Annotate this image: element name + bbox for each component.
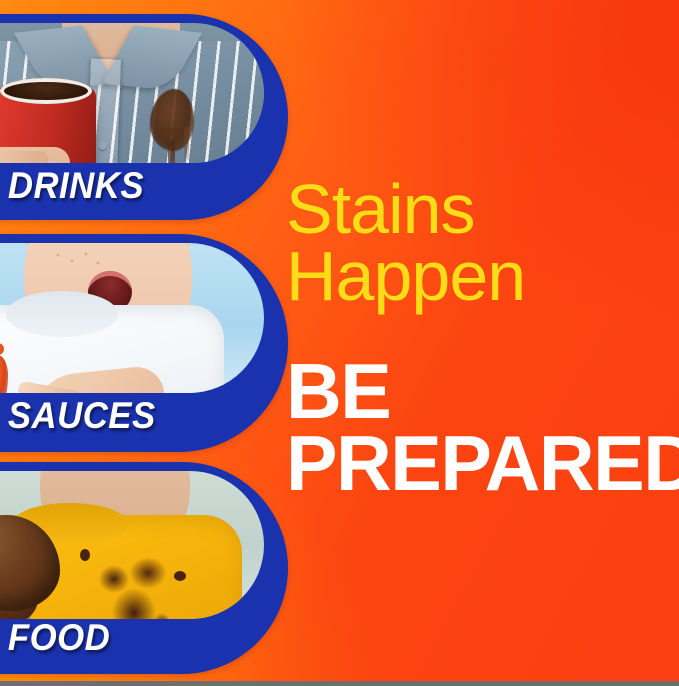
subhead: BE PREPARED — [286, 356, 675, 500]
chocolate-speck-shape — [174, 571, 186, 581]
headline: Stains Happen — [286, 176, 679, 310]
advertisement-canvas: DRINKS SAUCE — [0, 0, 679, 686]
stain-category-card-stack: DRINKS SAUCE — [0, 0, 288, 686]
photo-drinks — [0, 23, 264, 163]
subhead-line-1: BE — [286, 356, 675, 428]
scene-food-illustration — [0, 471, 264, 619]
shirt-button-shape — [98, 141, 107, 150]
card-label-food: FOOD — [0, 608, 265, 668]
card-label-drinks: DRINKS — [0, 156, 265, 216]
freckles-shape — [52, 251, 110, 271]
coffee-splash-shape — [160, 127, 174, 137]
stain-category-card-drinks[interactable]: DRINKS — [0, 14, 288, 220]
bottom-gray-bar — [0, 681, 679, 686]
scene-sauces-illustration — [0, 243, 264, 393]
stain-category-card-sauces[interactable]: SAUCES — [0, 234, 288, 452]
headline-line-1: Stains — [286, 176, 679, 243]
chocolate-speck-shape — [80, 549, 90, 561]
scene-drinks-illustration — [0, 23, 264, 163]
photo-food — [0, 471, 264, 619]
subhead-line-2: PREPARED — [286, 428, 675, 500]
card-label-sauces: SAUCES — [0, 386, 265, 446]
photo-sauces — [0, 243, 264, 393]
stain-category-card-food[interactable]: FOOD — [0, 462, 288, 674]
copy-block: Stains Happen BE PREPARED — [286, 0, 679, 686]
headline-line-2: Happen — [286, 243, 679, 310]
